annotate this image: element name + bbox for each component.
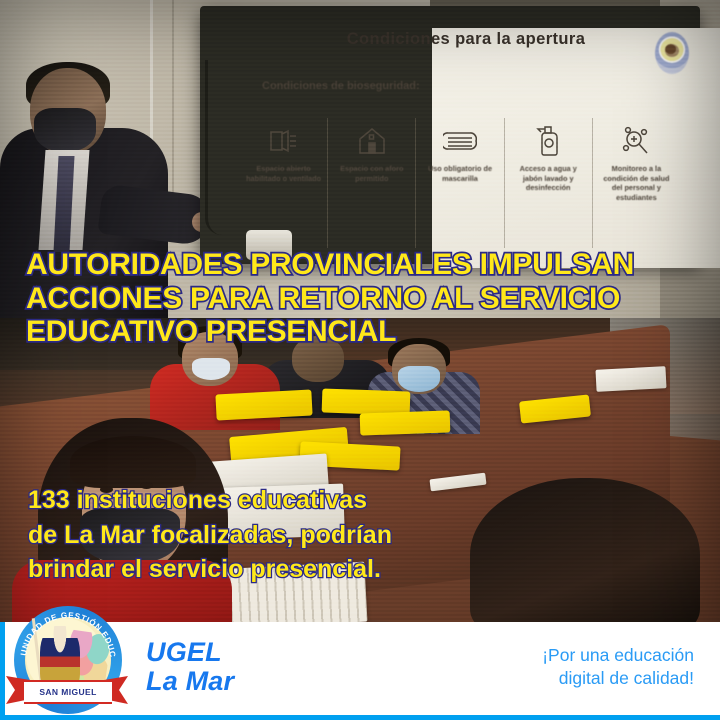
- subtitle-line: de La Mar focalizadas, podrían: [28, 518, 488, 553]
- news-poster: Condiciones para la apertura Condiciones…: [0, 0, 720, 720]
- page-title: AUTORIDADES PROVINCIALES IMPULSAN ACCION…: [26, 248, 706, 349]
- subtitle-line: 133 instituciones educativas: [28, 483, 488, 518]
- svg-text:UNIDAD DE GESTIÓN EDUCATIVA LO: UNIDAD DE GESTIÓN EDUCATIVA LOCAL - LA M…: [14, 606, 117, 658]
- footer-tagline: ¡Por una educación digital de calidad!: [542, 644, 694, 691]
- brand-wordmark: UGEL La Mar: [146, 638, 234, 696]
- tagline-line: ¡Por una educación: [542, 644, 694, 667]
- seal-ribbon: SAN MIGUEL: [6, 676, 128, 706]
- tagline-line: digital de calidad!: [542, 667, 694, 690]
- subtitle-line: brindar el servicio presencial.: [28, 552, 488, 587]
- brand-line-lamar: La Mar: [146, 667, 234, 696]
- brand-line-ugel: UGEL: [146, 638, 234, 667]
- ribbon-label: SAN MIGUEL: [39, 687, 96, 697]
- ribbon-band: SAN MIGUEL: [24, 680, 112, 704]
- subtitle-text: 133 instituciones educativas de La Mar f…: [28, 483, 488, 587]
